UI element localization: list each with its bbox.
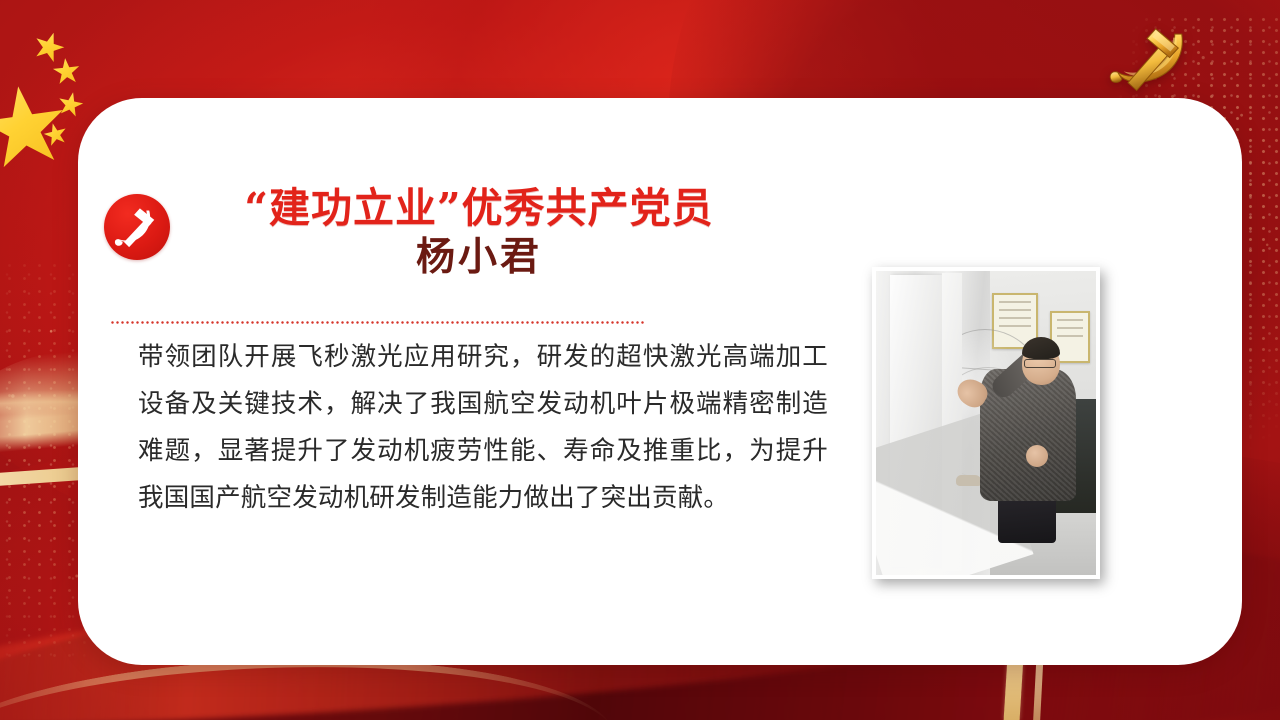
photo-person-shoe xyxy=(956,475,982,486)
person-name: 杨小君 xyxy=(194,234,764,281)
dotted-divider xyxy=(110,321,646,324)
title-block: “建功立业”优秀共产党员 杨小君 xyxy=(194,184,764,281)
person-photo xyxy=(872,267,1100,579)
photo-person-hair xyxy=(1022,337,1060,359)
person-photo-image xyxy=(876,271,1096,575)
photo-person xyxy=(972,327,1084,541)
body-paragraph: 带领团队开展飞秒激光应用研究，研发的超快激光高端加工设备及关键技术，解决了我国航… xyxy=(138,334,828,522)
photo-person-hand-lower xyxy=(1026,445,1048,467)
photo-person-glasses-icon xyxy=(1024,359,1056,368)
party-emblem-hammer-sickle-icon xyxy=(104,194,170,260)
card-header: “建功立业”优秀共产党员 杨小君 xyxy=(104,184,764,281)
content-card: “建功立业”优秀共产党员 杨小君 带领团队开展飞秒激光应用研究，研发的超快激光高… xyxy=(78,98,1242,665)
page-title: “建功立业”优秀共产党员 xyxy=(194,184,764,232)
slide-root: “建功立业”优秀共产党员 杨小君 带领团队开展飞秒激光应用研究，研发的超快激光高… xyxy=(0,0,1280,720)
